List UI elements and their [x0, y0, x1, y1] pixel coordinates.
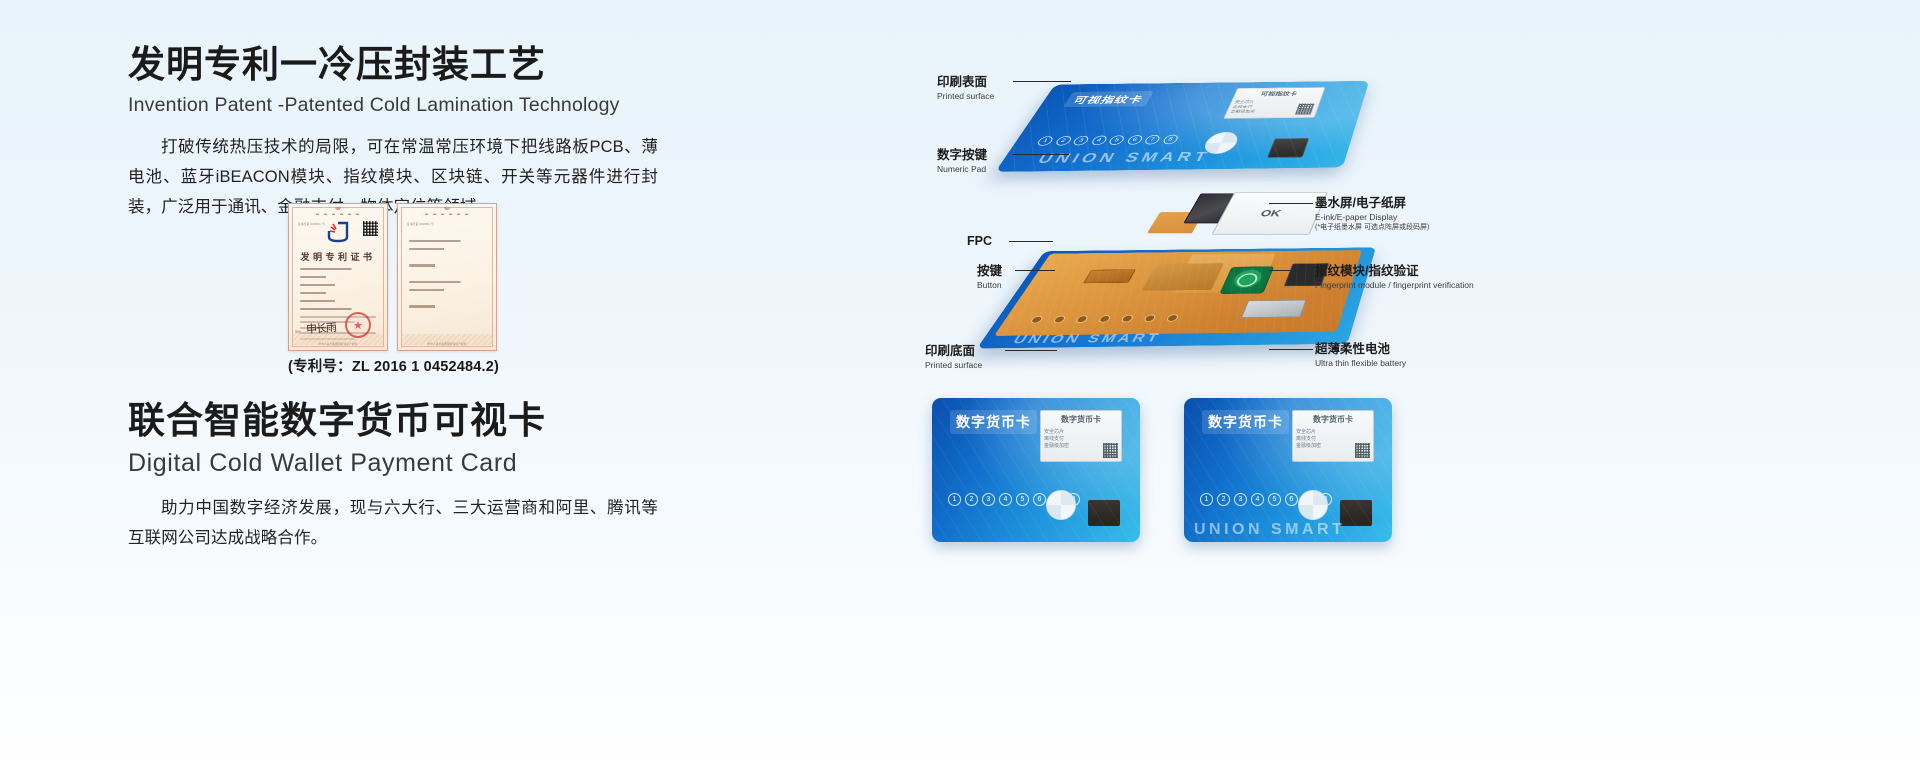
product-screen-line-3: 金融级加密 [1296, 442, 1370, 449]
product-card-1: 数字货币卡 数字货币卡 安全芯片 离线支付 金融级加密 1 2 3 4 5 [932, 398, 1140, 542]
product-screen-title: 数字货币卡 [1296, 414, 1370, 425]
certificate-code-1: 证书号第 000001 号 [298, 222, 325, 226]
callout-eink-display: 墨水屏/电子纸屏 E-ink/E-paper Display (*电子纸墨水屏 … [1315, 196, 1429, 232]
product-card-gallery: 数字货币卡 数字货币卡 安全芯片 离线支付 金融级加密 1 2 3 4 5 [932, 398, 1392, 542]
leader-tick [1013, 81, 1014, 82]
product-screen-line-2: 离线支付 [1044, 435, 1118, 442]
callout-printed-surface-bottom: 印刷底面 Printed surface [925, 344, 982, 371]
section1-heading-cn: 发明专利一冷压封装工艺 [128, 44, 688, 87]
certificate-red-seal-icon-1 [345, 312, 371, 338]
button-pad [1029, 316, 1044, 324]
keypad-key[interactable]: 8 [1319, 493, 1332, 506]
card-brand-label: 可视指纹卡 [1063, 91, 1154, 107]
leader-line [1015, 270, 1055, 271]
keypad-key[interactable]: 3 [1234, 493, 1247, 506]
keypad-key[interactable]: 7 [1143, 135, 1161, 145]
callout-label-cn: 指纹模块/指纹验证 [1315, 264, 1474, 280]
product-card-2: 数字货币卡 数字货币卡 安全芯片 离线支付 金融级加密 1 2 3 4 5 [1184, 398, 1392, 542]
card-display-screen: 可视指纹卡 安全芯片 离线支付 金融级加密 [1223, 87, 1325, 119]
product-control-wheel-icon [1298, 490, 1328, 520]
callout-label-en: Ultra thin flexible battery [1315, 358, 1406, 369]
patent-certificate-image-2: 证书号第 000001 号 中华人民共和国国家知识产权局 [397, 203, 497, 351]
keypad-key[interactable]: 1 [1035, 136, 1054, 146]
button-pad [1075, 315, 1090, 323]
product-numeric-keypad: 1 2 3 4 5 6 7 8 [948, 493, 1080, 506]
pcb-chip-a [1083, 269, 1136, 283]
pcb-flex-section [1172, 254, 1276, 294]
callout-fpc: FPC [967, 234, 992, 250]
patent-number-caption: (专利号：ZL 2016 1 0452484.2) [288, 355, 493, 376]
callout-label-en: E-ink/E-paper Display [1315, 212, 1429, 223]
product-brand-label: 数字货币卡 [950, 410, 1037, 434]
section2-heading-en: Digital Cold Wallet Payment Card [128, 449, 688, 478]
card-screen-line-2: 离线支付 [1232, 104, 1316, 110]
certificate-footer-1: 中华人民共和国国家知识产权局 [289, 342, 387, 346]
section2-heading-cn: 联合智能数字货币可视卡 [128, 400, 688, 443]
card-fingerprint-sensor [1267, 138, 1309, 158]
flexible-pcb-board [994, 250, 1362, 336]
certificate-ornament-icon-2 [425, 207, 469, 215]
section2-body-text: 助力中国数字经济发展，现与六大行、三大运营商和阿里、腾讯等互联网公司达成战略合作… [128, 493, 658, 553]
product-control-wheel-icon [1046, 490, 1076, 520]
leader-line [1009, 241, 1053, 242]
cnipa-logo-icon [325, 221, 351, 243]
pcb-chip-b [1142, 263, 1224, 291]
keypad-key[interactable]: 2 [965, 493, 978, 506]
card-screen-title: 可视指纹卡 [1237, 90, 1321, 98]
callout-label-cn: 超薄柔性电池 [1315, 342, 1406, 358]
section1-heading-en: Invention Patent -Patented Cold Laminati… [128, 94, 688, 117]
keypad-key[interactable]: 5 [1268, 493, 1281, 506]
product-display-screen: 数字货币卡 安全芯片 离线支付 金融级加密 [1040, 410, 1122, 462]
exploded-card-diagram: 可视指纹卡 可视指纹卡 安全芯片 离线支付 金融级加密 1 2 3 4 5 [905, 48, 1465, 388]
callout-flexible-battery: 超薄柔性电池 Ultra thin flexible battery [1315, 342, 1406, 369]
fingerprint-module-green [1219, 266, 1274, 294]
keypad-key[interactable]: 4 [1251, 493, 1264, 506]
keypad-key[interactable]: 4 [999, 493, 1012, 506]
product-numeric-keypad: 1 2 3 4 5 6 7 8 [1200, 493, 1332, 506]
card-numeric-keypad: 1 2 3 4 5 6 7 8 [1035, 135, 1179, 146]
pcb-button-pads [1029, 314, 1179, 323]
certificate-footer-2: 中华人民共和国国家知识产权局 [398, 342, 496, 346]
callout-label-cn: 印刷底面 [925, 344, 982, 360]
product-watermark-text: UNION SMART [1194, 521, 1345, 539]
callout-button: 按键 Button [977, 264, 1002, 291]
keypad-key[interactable]: 8 [1161, 135, 1179, 145]
certificate-field-lines-2 [409, 240, 485, 313]
certificate-qr-icon-1 [363, 221, 378, 236]
keypad-key[interactable]: 7 [1050, 493, 1063, 506]
product-screen-line-1: 安全芯片 [1296, 428, 1370, 435]
callout-printed-surface-top: 印刷表面 Printed surface [937, 75, 994, 102]
button-pad [1097, 315, 1112, 323]
product-screen-title: 数字货币卡 [1044, 414, 1118, 425]
keypad-key[interactable]: 3 [982, 493, 995, 506]
leader-line [1269, 203, 1313, 204]
patent-certificate-gallery: 证书号第 000001 号 发明专利证书 局长 申长雨 中华人民共和国国家知识产… [288, 203, 497, 351]
keypad-key[interactable]: 6 [1125, 135, 1143, 145]
callout-label-en: Numeric Pad [937, 164, 987, 175]
callout-label-cn: 按键 [977, 264, 1002, 280]
keypad-key[interactable]: 4 [1089, 136, 1108, 146]
keypad-key[interactable]: 1 [948, 493, 961, 506]
keypad-key[interactable]: 1 [1200, 493, 1213, 506]
certificate-sign-label-1: 局长 [295, 330, 301, 335]
product-screen-line-1: 安全芯片 [1044, 428, 1118, 435]
leader-line [1013, 154, 1069, 155]
battery-slot [1241, 300, 1307, 318]
card-front-face: 可视指纹卡 可视指纹卡 安全芯片 离线支付 金融级加密 1 2 3 4 5 [995, 81, 1369, 172]
certificate-field-lines-1 [300, 268, 376, 316]
button-pad [1120, 315, 1134, 323]
keypad-key[interactable]: 2 [1217, 493, 1230, 506]
callout-fingerprint-module: 指纹模块/指纹验证 Fingerprint module / fingerpri… [1315, 264, 1474, 291]
card-screen-line-1: 安全芯片 [1234, 99, 1318, 105]
callout-label-cn: 数字按键 [937, 148, 987, 164]
certificate-ornament-icon [316, 207, 360, 215]
button-pad [1166, 314, 1180, 321]
leader-line [1013, 81, 1071, 82]
keypad-key[interactable]: 2 [1053, 136, 1072, 146]
card-watermark-text: UNION SMART [1034, 149, 1213, 166]
callout-label-cn: FPC [967, 234, 992, 250]
keypad-key[interactable]: 5 [1016, 493, 1029, 506]
leader-line [1005, 350, 1057, 351]
product-screen-line-3: 金融级加密 [1044, 442, 1118, 449]
product-fingerprint-sensor [1088, 500, 1120, 526]
product-display-screen: 数字货币卡 安全芯片 离线支付 金融级加密 [1292, 410, 1374, 462]
keypad-key[interactable]: 8 [1067, 493, 1080, 506]
card-control-wheel-icon [1201, 132, 1242, 154]
eink-battery-layer: OK [1141, 192, 1328, 243]
leader-line [1269, 349, 1313, 350]
button-pad [1052, 316, 1067, 324]
keypad-key[interactable]: 5 [1107, 135, 1126, 145]
leader-line [1269, 270, 1313, 271]
callout-numeric-pad: 数字按键 Numeric Pad [937, 148, 987, 175]
certificate-code-2: 证书号第 000001 号 [407, 222, 434, 226]
callout-label-en: Printed surface [937, 91, 994, 102]
card-screen-line-3: 金融级加密 [1229, 108, 1314, 114]
callout-label-en: Button [977, 280, 1002, 291]
product-brand-label: 数字货币卡 [1202, 410, 1289, 434]
card-qr-icon [1295, 104, 1315, 115]
pcb-layer: UNION SMART [977, 247, 1376, 348]
product-screen-line-2: 离线支付 [1296, 435, 1370, 442]
callout-label-cn: 墨水屏/电子纸屏 [1315, 196, 1429, 212]
callout-label-note: (*电子纸墨水屏 可选点阵屏或段码屏) [1315, 223, 1429, 232]
keypad-key[interactable]: 7 [1302, 493, 1315, 506]
certificate-signature-1: 申长雨 [305, 319, 336, 337]
callout-label-cn: 印刷表面 [937, 75, 994, 91]
keypad-key[interactable]: 3 [1071, 136, 1090, 146]
keypad-key[interactable]: 6 [1285, 493, 1298, 506]
callout-label-en: Printed surface [925, 360, 982, 371]
product-fingerprint-sensor [1340, 500, 1372, 526]
keypad-key[interactable]: 6 [1033, 493, 1046, 506]
patent-certificate-image-1: 证书号第 000001 号 发明专利证书 局长 申长雨 中华人民共和国国家知识产… [288, 203, 388, 351]
pcb-watermark-text: UNION SMART [1010, 331, 1164, 346]
callout-label-en: Fingerprint module / fingerprint verific… [1315, 280, 1474, 291]
product-qr-icon [1103, 443, 1118, 458]
page-canvas: 发明专利一冷压封装工艺 Invention Patent -Patented C… [0, 0, 1920, 784]
certificate-title-1: 发明专利证书 [289, 250, 387, 263]
product-qr-icon [1355, 443, 1370, 458]
button-pad [1143, 315, 1157, 322]
